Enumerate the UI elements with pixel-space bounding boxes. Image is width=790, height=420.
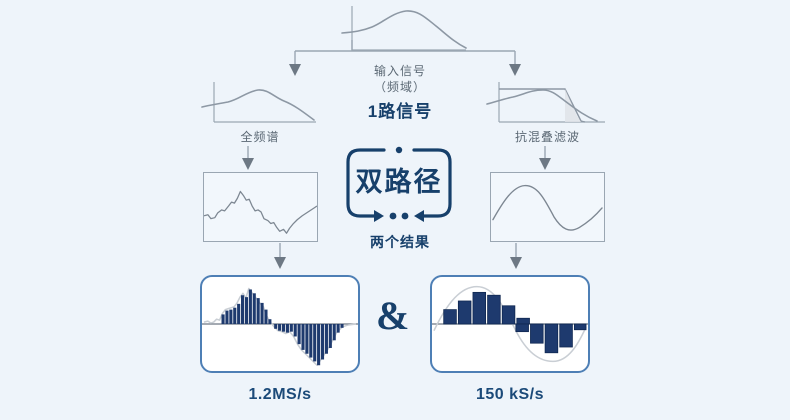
low-rate-bars-plot	[432, 277, 588, 371]
sine-waveform-box	[490, 172, 605, 242]
dual-path-label: 双路径	[338, 160, 460, 199]
high-rate-bars-plot	[202, 277, 358, 371]
ampersand-symbol: &	[376, 292, 409, 339]
input-signal-caption-line2: （频域）	[300, 78, 500, 95]
sine-waveform-plot	[491, 173, 604, 241]
diagram-canvas: 输入信号 （频域） 1路信号 全频谱 抗混叠滤波	[0, 0, 790, 420]
low-rate-label: 150 kS/s	[430, 386, 590, 404]
high-rate-card	[200, 275, 360, 373]
dual-path-badge: 双路径	[338, 146, 460, 232]
noisy-waveform-box	[203, 172, 318, 242]
noisy-waveform-plot	[204, 173, 317, 241]
high-rate-label: 1.2MS/s	[200, 386, 360, 404]
two-results-label: 两个结果	[340, 232, 460, 252]
input-signal-headline: 1路信号	[300, 97, 500, 122]
anti-alias-caption: 抗混叠滤波	[485, 128, 610, 145]
input-spectrum-chart	[340, 2, 470, 62]
low-rate-card	[430, 275, 590, 373]
anti-alias-chart	[485, 78, 610, 130]
input-spectrum-plot	[340, 2, 470, 62]
input-signal-caption-line1: 输入信号	[300, 62, 500, 79]
full-spectrum-chart	[200, 78, 320, 130]
full-spectrum-caption: 全频谱	[200, 128, 320, 145]
anti-alias-plot	[485, 78, 610, 130]
full-spectrum-plot	[200, 78, 320, 130]
